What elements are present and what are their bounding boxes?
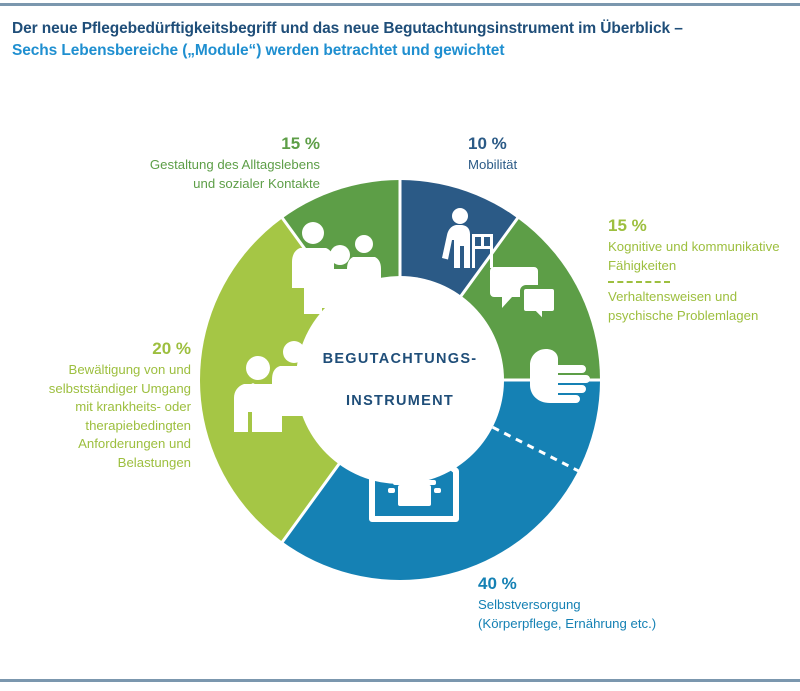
callout-gestaltung-percent: 15 % [66, 132, 320, 156]
callout-bewaeltigung: 20 % Bewältigung von und selbstständiger… [8, 337, 191, 472]
callout-dashed-divider [608, 281, 670, 283]
callout-selbstversorgung-line-1: Selbstversorgung [478, 596, 788, 615]
page-title: Der neue Pflegebedürftigkeitsbegriff und… [12, 18, 792, 62]
callout-bewaeltigung-line-3: mit krankheits- oder [8, 398, 191, 417]
bottom-divider-rule [0, 679, 800, 682]
donut-chart [180, 160, 620, 600]
callout-bewaeltigung-line-1: Bewältigung von und [8, 361, 191, 380]
callout-bewaeltigung-line-4: therapiebedingten [8, 417, 191, 436]
callout-gestaltung-line-1: Gestaltung des Alltagslebens [66, 156, 320, 175]
top-divider-rule [0, 3, 800, 6]
callout-verhaltensweisen-line-1: Verhaltensweisen und [608, 288, 800, 307]
callout-gestaltung-line-2: und sozialer Kontakte [66, 175, 320, 194]
callout-selbstversorgung-percent: 40 % [478, 572, 788, 596]
callout-kognitive-percent: 15 % [608, 214, 800, 238]
callout-kognitive-line-2: Fähigkeiten [608, 257, 800, 276]
callout-verhaltensweisen-line-2: psychische Problemlagen [608, 307, 800, 326]
callout-gestaltung-alltag: 15 % Gestaltung des Alltagslebens und so… [66, 132, 320, 193]
callout-selbstversorgung-line-2: (Körperpflege, Ernährung etc.) [478, 615, 788, 634]
callout-mobilitaet: 10 % Mobilität [468, 132, 648, 175]
callout-kognitive-verhaltensweisen: 15 % Kognitive und kommunikative Fähigke… [608, 214, 800, 325]
callout-bewaeltigung-line-2: selbstständiger Umgang [8, 380, 191, 399]
callout-mobilitaet-line-1: Mobilität [468, 156, 648, 175]
callout-bewaeltigung-percent: 20 % [8, 337, 191, 361]
callout-mobilitaet-percent: 10 % [468, 132, 648, 156]
title-line-2: Sechs Lebensbereiche („Module“) werden b… [12, 40, 792, 62]
callout-selbstversorgung: 40 % Selbstversorgung (Körperpflege, Ern… [478, 572, 788, 633]
infographic-page: Der neue Pflegebedürftigkeitsbegriff und… [0, 0, 800, 691]
title-line-1: Der neue Pflegebedürftigkeitsbegriff und… [12, 18, 792, 40]
callout-kognitive-line-1: Kognitive und kommunikative [608, 238, 800, 257]
callout-bewaeltigung-line-6: Belastungen [8, 454, 191, 473]
callout-bewaeltigung-line-5: Anforderungen und [8, 435, 191, 454]
